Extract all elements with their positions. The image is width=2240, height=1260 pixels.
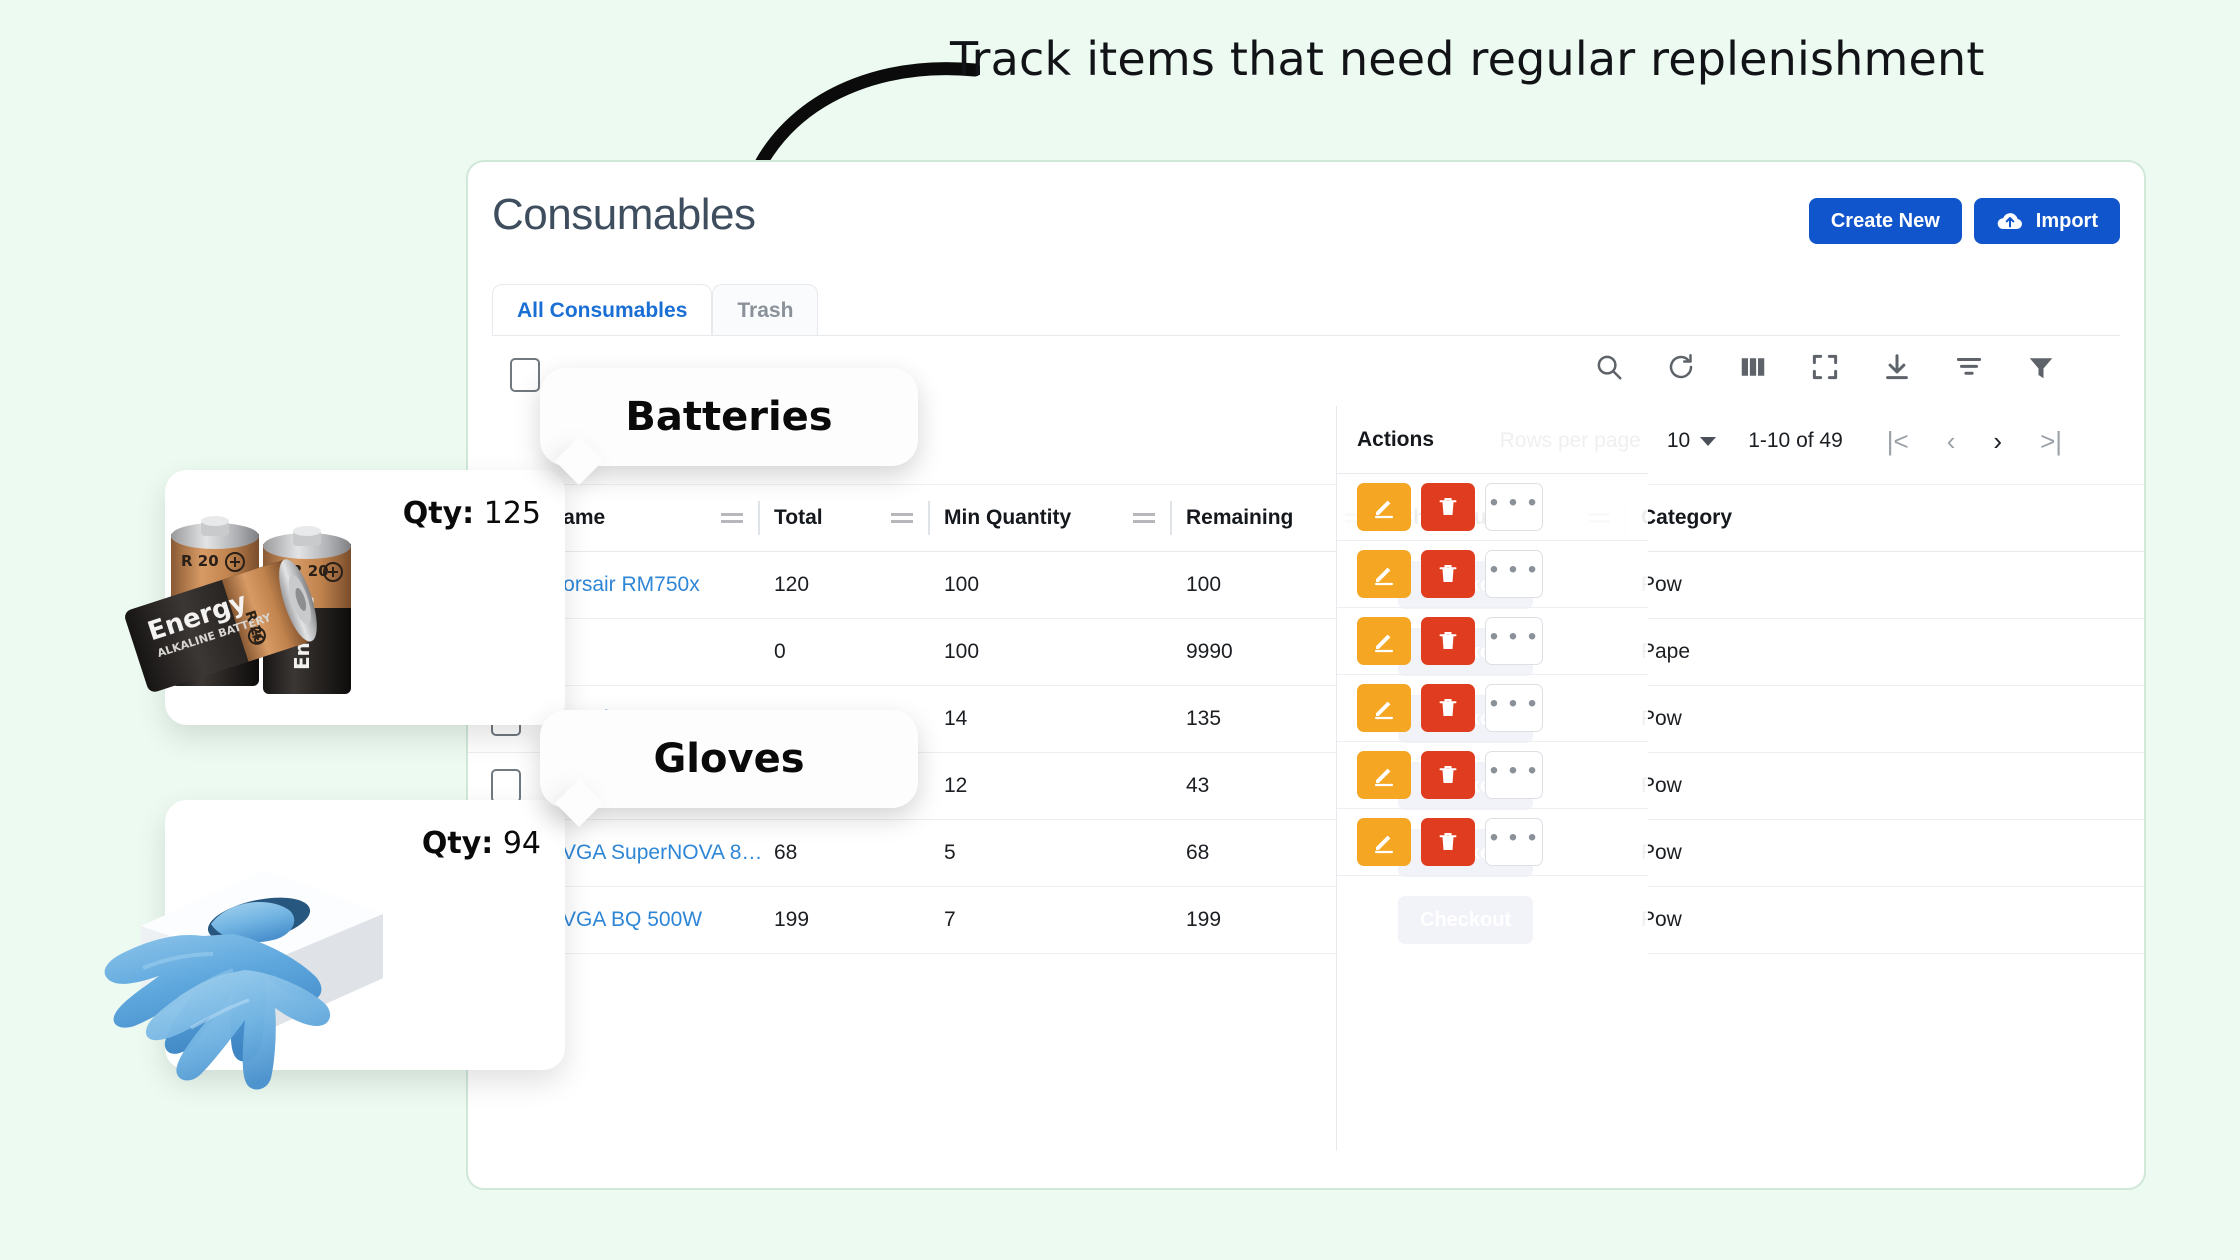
cloud-upload-icon	[1996, 210, 2024, 232]
column-header-category[interactable]: Category	[1641, 506, 1871, 530]
table-header-row: Name Total	[468, 484, 2144, 552]
delete-icon	[1436, 629, 1460, 653]
toolbar-icon-group	[1594, 352, 2056, 382]
search-icon[interactable]	[1594, 352, 1624, 382]
battery-qty-value: 125	[484, 496, 541, 531]
row-min-quantity: 7	[944, 908, 1186, 932]
edit-icon	[1372, 830, 1396, 854]
row-category: Pow	[1641, 707, 1871, 731]
delete-icon	[1436, 763, 1460, 787]
first-page-button[interactable]: |<	[1887, 428, 1909, 454]
more-actions-button[interactable]: • • •	[1485, 483, 1543, 531]
consumables-panel: Consumables Create New Import All Consum…	[466, 160, 2146, 1190]
edit-icon	[1372, 763, 1396, 787]
refresh-icon[interactable]	[1666, 352, 1696, 382]
row-min-quantity: 100	[944, 573, 1186, 597]
more-actions-button[interactable]: • • •	[1485, 751, 1543, 799]
table-row[interactable]: EVGA BQ 500W 199 7 199 Checkout Pow	[468, 887, 2144, 954]
callout-batteries-label: Batteries	[625, 394, 832, 440]
actions-column-pane: Actions • • • • • •	[1336, 406, 1648, 1151]
page-title: Consumables	[492, 190, 756, 240]
rows-per-page-value: 10	[1667, 429, 1690, 453]
delete-button[interactable]	[1421, 751, 1475, 799]
column-menu-icon[interactable]	[720, 511, 744, 525]
download-icon[interactable]	[1882, 352, 1912, 382]
delete-button[interactable]	[1421, 617, 1475, 665]
import-label: Import	[2036, 210, 2098, 233]
columns-icon[interactable]	[1738, 352, 1768, 382]
delete-icon	[1436, 696, 1460, 720]
edit-button[interactable]	[1357, 617, 1411, 665]
more-actions-button[interactable]: • • •	[1485, 617, 1543, 665]
row-name-link[interactable]: EVGA SuperNOVA 8…	[544, 841, 774, 865]
column-resize-handle[interactable]	[1170, 501, 1172, 535]
more-actions-button[interactable]: • • •	[1485, 684, 1543, 732]
import-button[interactable]: Import	[1974, 198, 2120, 244]
tab-all-consumables[interactable]: All Consumables	[492, 284, 712, 336]
column-header-category-label: Category	[1641, 506, 1732, 529]
gloves-qty-value: 94	[503, 826, 541, 861]
column-resize-handle[interactable]	[758, 501, 760, 535]
table-row[interactable]: 0 100 9990 Checkout Pape	[468, 619, 2144, 686]
chevron-down-icon	[1700, 437, 1716, 446]
row-min-quantity: 14	[944, 707, 1186, 731]
row-actions: • • •	[1337, 809, 1648, 876]
column-header-total-label: Total	[774, 506, 823, 530]
delete-button[interactable]	[1421, 483, 1475, 531]
column-resize-handle[interactable]	[928, 501, 930, 535]
delete-button[interactable]	[1421, 684, 1475, 732]
more-actions-button[interactable]: • • •	[1485, 818, 1543, 866]
edit-icon	[1372, 629, 1396, 653]
annotation-headline: Track items that need regular replenishm…	[950, 32, 1985, 86]
row-total: 120	[774, 573, 944, 597]
row-category: Pow	[1641, 841, 1871, 865]
d-cell-batteries-photo: R 20 Energy R 20 Energy	[113, 492, 443, 742]
row-category: Pow	[1641, 573, 1871, 597]
row-name-link[interactable]: Corsair RM750x	[544, 573, 774, 597]
column-menu-icon[interactable]	[1132, 511, 1156, 525]
column-header-total[interactable]: Total	[774, 501, 944, 535]
create-new-button[interactable]: Create New	[1809, 198, 1962, 244]
rows-per-page-select[interactable]: 10	[1667, 429, 1716, 453]
row-actions: • • •	[1337, 675, 1648, 742]
tab-trash-label: Trash	[737, 299, 793, 323]
row-actions: • • •	[1337, 541, 1648, 608]
callout-batteries: Batteries	[540, 368, 918, 466]
more-actions-button[interactable]: • • •	[1485, 550, 1543, 598]
row-checkbox[interactable]	[491, 769, 521, 803]
column-header-min-quantity-label: Min Quantity	[944, 506, 1071, 530]
product-card-gloves: Qty: 94	[165, 800, 565, 1070]
delete-icon	[1436, 830, 1460, 854]
product-card-batteries: Qty: 125	[165, 470, 565, 725]
pagination-range: 1-10 of 49	[1748, 429, 1843, 453]
row-name-link[interactable]: EVGA BQ 500W	[544, 908, 774, 932]
tab-trash[interactable]: Trash	[712, 284, 818, 336]
edit-icon	[1372, 696, 1396, 720]
header-actions: Create New Import	[1809, 198, 2120, 244]
gloves-qty-label: Qty:	[422, 826, 493, 861]
column-header-remaining-label: Remaining	[1186, 506, 1293, 530]
row-min-quantity: 5	[944, 841, 1186, 865]
row-total: 199	[774, 908, 944, 932]
edit-button[interactable]	[1357, 684, 1411, 732]
column-header-min-quantity[interactable]: Min Quantity	[944, 501, 1186, 535]
edit-icon	[1372, 495, 1396, 519]
battery-qty-label: Qty:	[403, 496, 474, 531]
column-header-name[interactable]: Name	[544, 501, 774, 535]
density-icon[interactable]	[1954, 352, 1984, 382]
next-page-button[interactable]: ›	[1993, 428, 2002, 454]
column-header-actions: Actions	[1337, 406, 1648, 474]
row-actions: • • •	[1337, 742, 1648, 809]
filter-icon[interactable]	[2026, 352, 2056, 382]
edit-button[interactable]	[1357, 818, 1411, 866]
fullscreen-icon[interactable]	[1810, 352, 1840, 382]
row-actions: • • •	[1337, 474, 1648, 541]
select-all-checkbox[interactable]	[510, 358, 540, 392]
edit-button[interactable]	[1357, 751, 1411, 799]
svg-text:R 20: R 20	[181, 552, 219, 570]
row-checkbox-cell	[468, 769, 544, 803]
last-page-button[interactable]: >|	[2040, 428, 2062, 454]
row-category: Pow	[1641, 908, 1871, 932]
row-actions: • • •	[1337, 608, 1648, 675]
delete-button[interactable]	[1421, 818, 1475, 866]
callout-gloves: Gloves	[540, 710, 918, 808]
row-min-quantity: 100	[944, 640, 1186, 664]
edit-button[interactable]	[1357, 550, 1411, 598]
delete-icon	[1436, 562, 1460, 586]
row-min-quantity: 12	[944, 774, 1186, 798]
prev-page-button[interactable]: ‹	[1947, 428, 1956, 454]
battery-qty: Qty: 125	[403, 496, 541, 531]
screenshot-root: Track items that need regular replenishm…	[0, 0, 2240, 1260]
tab-all-consumables-label: All Consumables	[517, 299, 687, 323]
panel-header: Consumables Create New Import	[468, 162, 2144, 280]
row-category: Pape	[1641, 640, 1871, 664]
nitrile-gloves-box-photo	[83, 828, 443, 1108]
row-category: Pow	[1641, 774, 1871, 798]
table-row[interactable]: Corsair RM750x 120 100 100 Checkout Pow	[468, 552, 2144, 619]
row-total: 0	[774, 640, 944, 664]
callout-gloves-label: Gloves	[653, 736, 804, 782]
gloves-qty: Qty: 94	[422, 826, 541, 861]
edit-icon	[1372, 562, 1396, 586]
tab-bar: All Consumables Trash	[468, 280, 2144, 336]
row-total: 68	[774, 841, 944, 865]
create-new-label: Create New	[1831, 210, 1940, 233]
delete-button[interactable]	[1421, 550, 1475, 598]
delete-icon	[1436, 495, 1460, 519]
table-row[interactable]: EVGA SuperNOVA 8… 68 5 68 Checkout Pow	[468, 820, 2144, 887]
edit-button[interactable]	[1357, 483, 1411, 531]
column-menu-icon[interactable]	[890, 511, 914, 525]
